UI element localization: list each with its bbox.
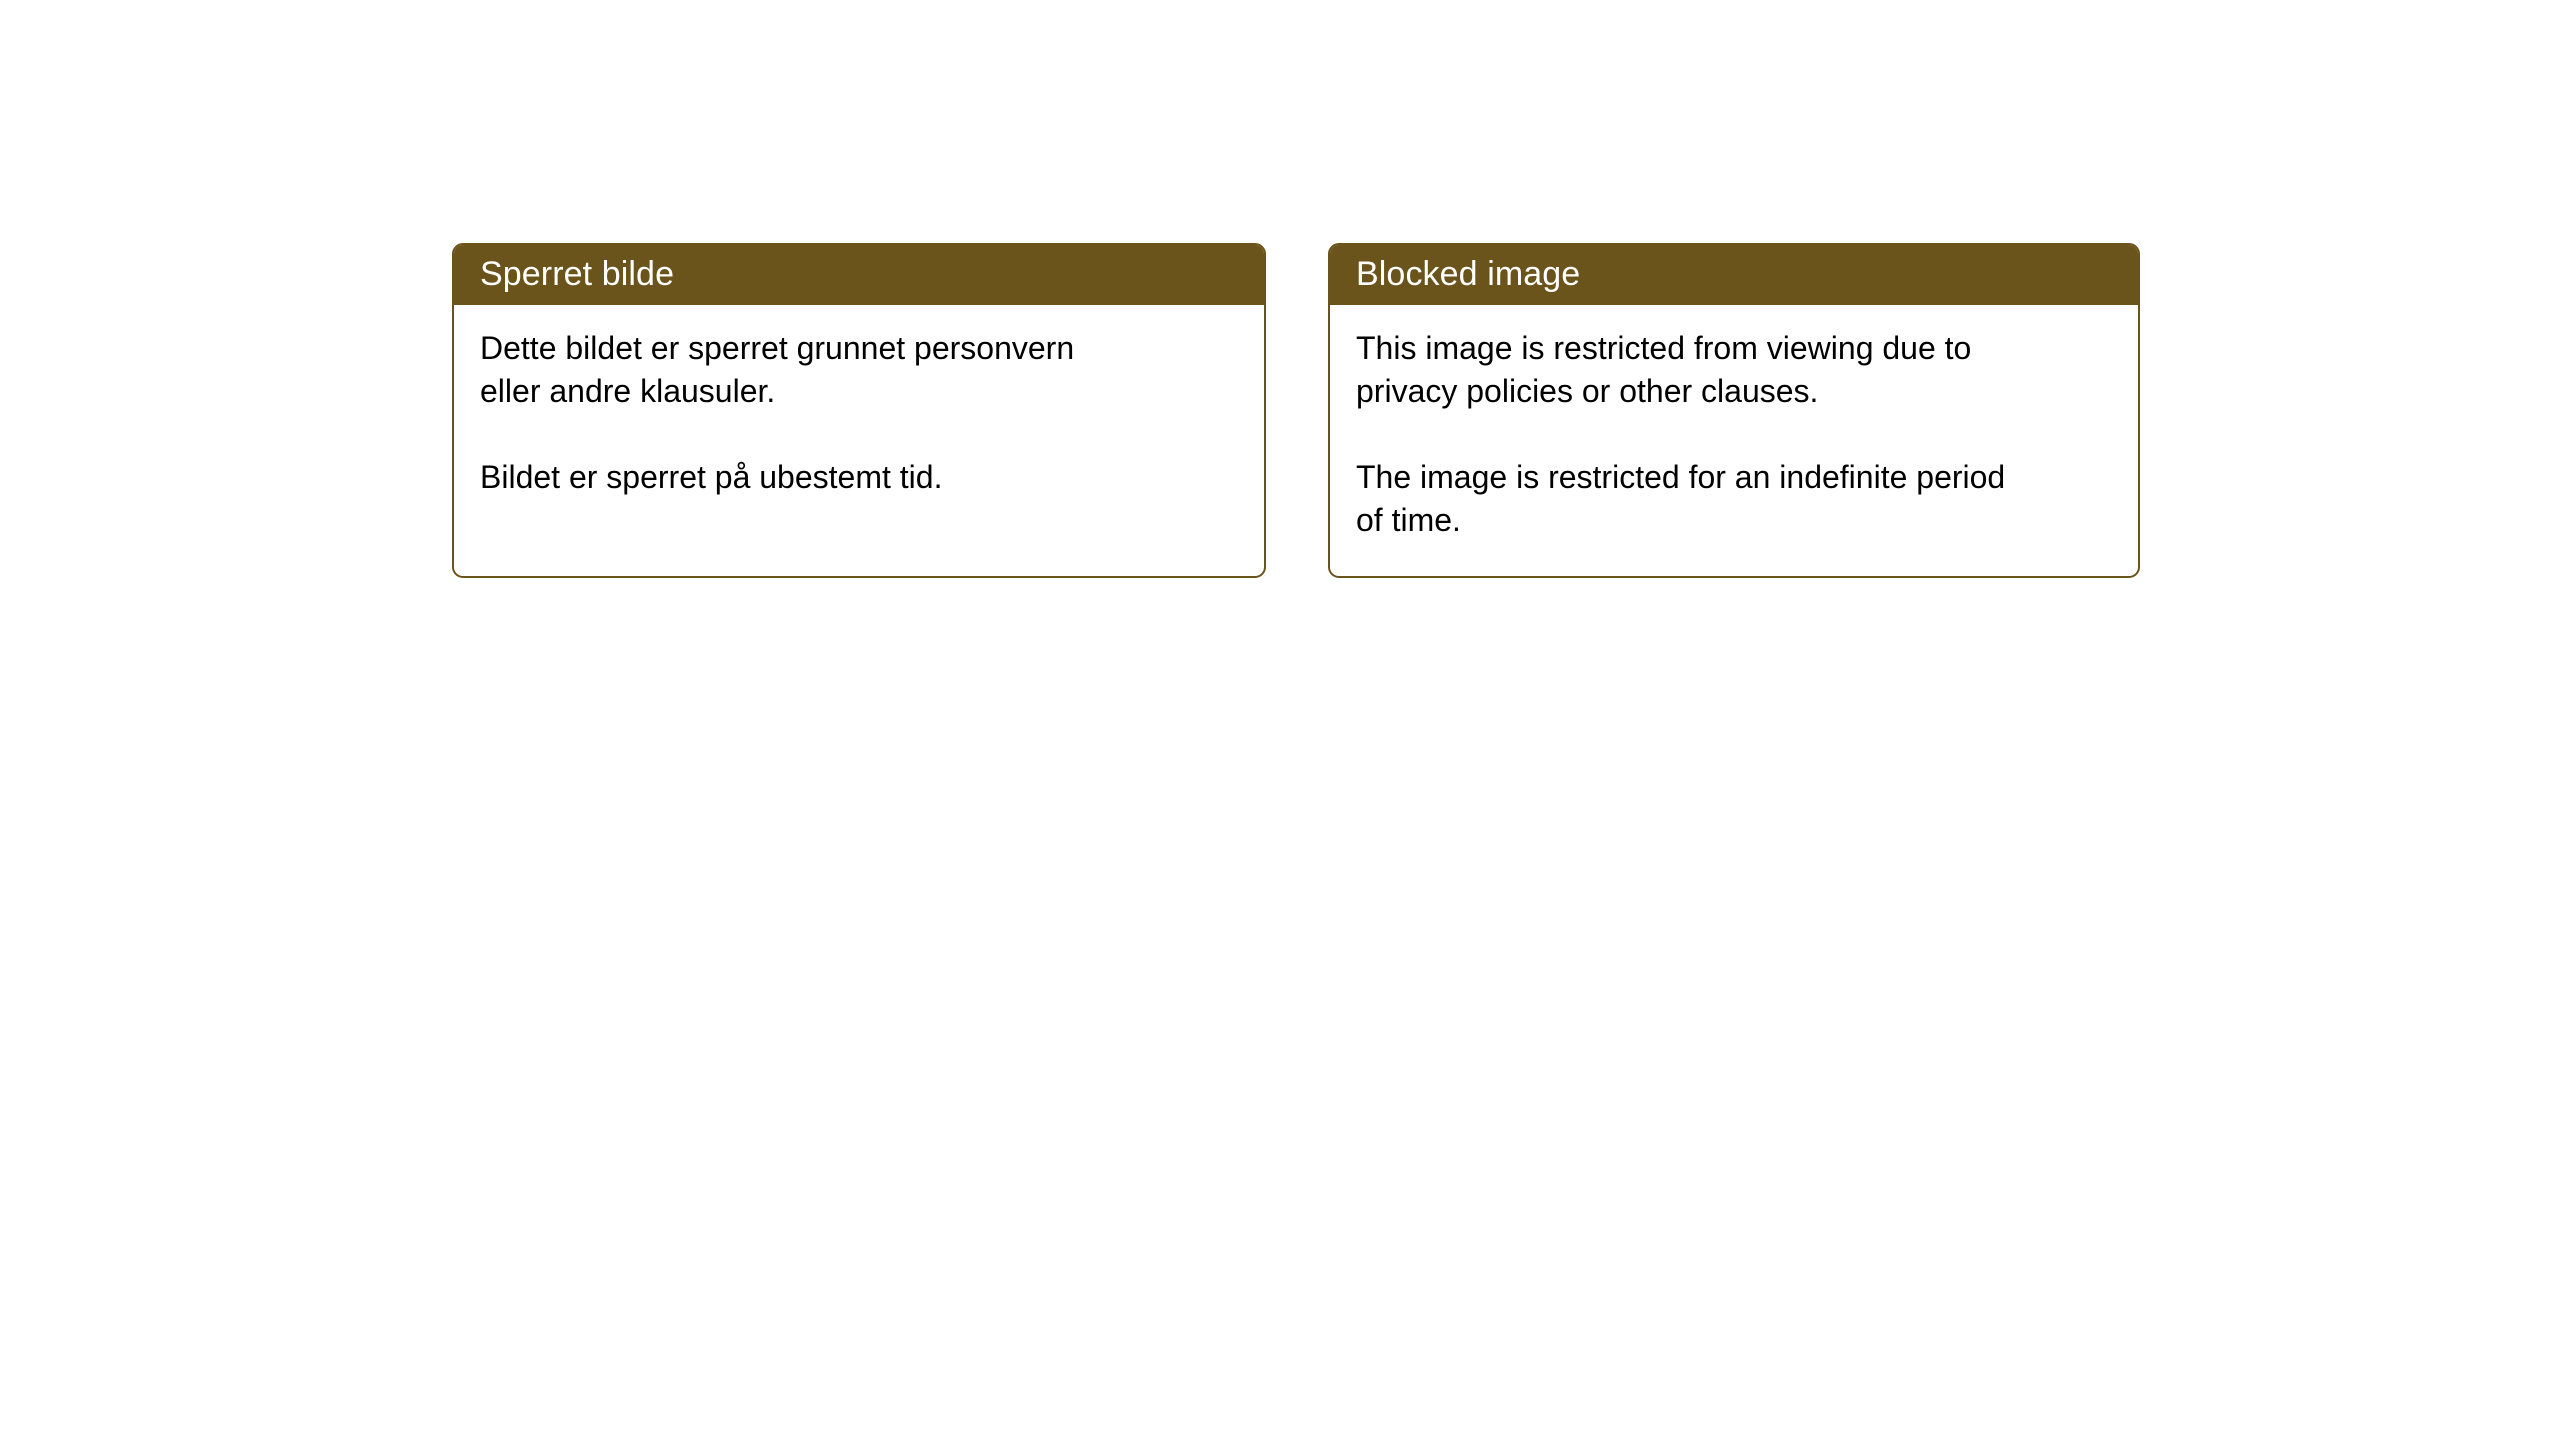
card-paragraph-reason-english: This image is restricted from viewing du…: [1356, 327, 2112, 413]
blocked-image-card-english: Blocked image This image is restricted f…: [1328, 243, 2140, 578]
card-paragraph-duration-norwegian: Bildet er sperret på ubestemt tid.: [480, 456, 1238, 499]
page-root: Sperret bilde Dette bildet er sperret gr…: [0, 0, 2560, 1440]
card-title-english: Blocked image: [1356, 254, 1580, 294]
blocked-image-card-norwegian: Sperret bilde Dette bildet er sperret gr…: [452, 243, 1266, 578]
card-paragraph-duration-english: The image is restricted for an indefinit…: [1356, 456, 2112, 542]
card-paragraph-reason-norwegian: Dette bildet er sperret grunnet personve…: [480, 327, 1238, 413]
card-header-norwegian: Sperret bilde: [452, 243, 1266, 305]
card-title-norwegian: Sperret bilde: [480, 254, 674, 294]
card-body-norwegian: Dette bildet er sperret grunnet personve…: [454, 305, 1264, 499]
card-header-english: Blocked image: [1328, 243, 2140, 305]
card-body-english: This image is restricted from viewing du…: [1330, 305, 2138, 542]
